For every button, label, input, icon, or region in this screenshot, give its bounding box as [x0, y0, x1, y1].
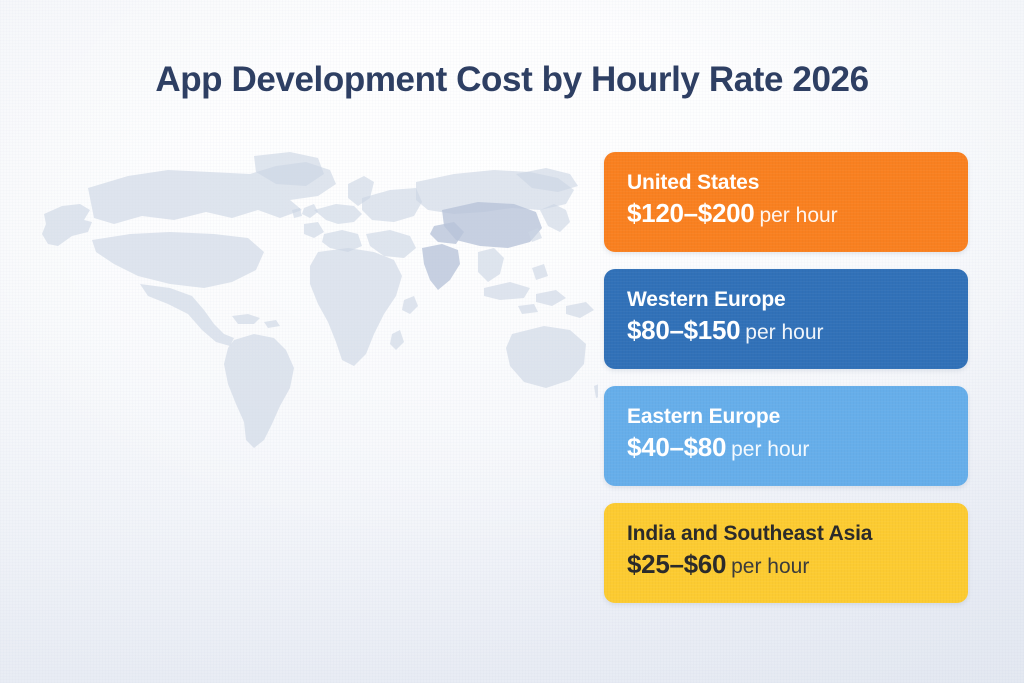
region-label: United States: [627, 172, 968, 194]
region-label: Western Europe: [627, 289, 968, 311]
rate-card-united-states[interactable]: United States $120–$200per hour: [604, 152, 968, 252]
region-label: India and Southeast Asia: [627, 523, 968, 545]
rate-range: $80–$150: [627, 315, 740, 345]
page-title: App Development Cost by Hourly Rate 2026: [0, 60, 1024, 100]
rate-line: $40–$80per hour: [627, 434, 968, 461]
rate-unit: per hour: [731, 555, 809, 578]
region-label: Eastern Europe: [627, 406, 968, 428]
world-map: [18, 148, 598, 468]
rate-card-india-and-southeast-asia[interactable]: India and Southeast Asia $25–$60per hour: [604, 503, 968, 603]
rate-range: $120–$200: [627, 198, 754, 228]
rate-range: $25–$60: [627, 549, 726, 579]
infographic-canvas: App Development Cost by Hourly Rate 2026…: [0, 0, 1024, 683]
rate-card-eastern-europe[interactable]: Eastern Europe $40–$80per hour: [604, 386, 968, 486]
rate-unit: per hour: [745, 321, 823, 344]
rate-card-list: United States $120–$200per hour Western …: [604, 152, 968, 603]
rate-unit: per hour: [759, 204, 837, 227]
rate-line: $25–$60per hour: [627, 551, 968, 578]
rate-line: $120–$200per hour: [627, 200, 968, 227]
rate-line: $80–$150per hour: [627, 317, 968, 344]
rate-card-western-europe[interactable]: Western Europe $80–$150per hour: [604, 269, 968, 369]
rate-range: $40–$80: [627, 432, 726, 462]
world-map-landmasses: [42, 152, 598, 448]
rate-unit: per hour: [731, 438, 809, 461]
